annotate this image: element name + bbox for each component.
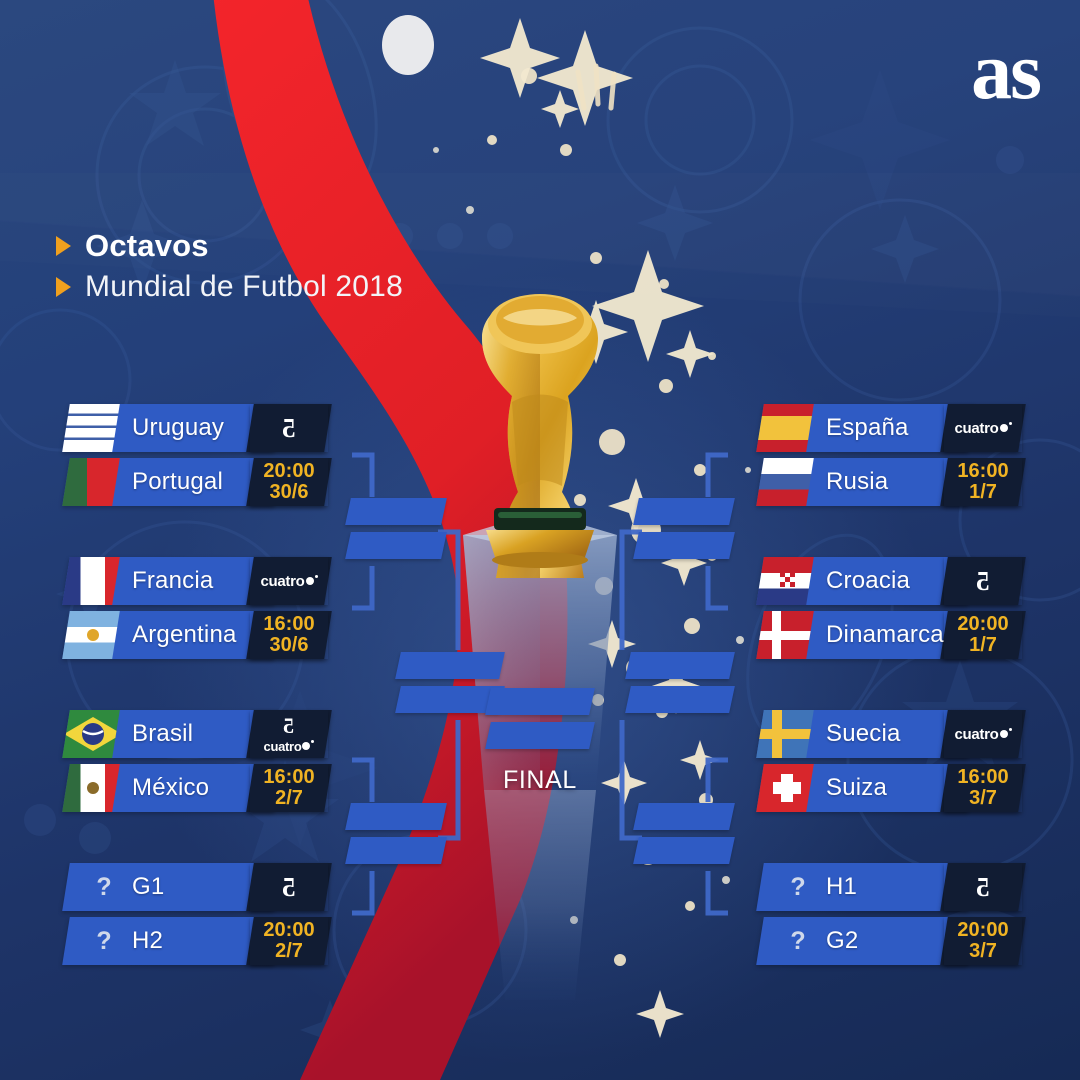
flag-rusia <box>756 458 814 506</box>
match-row-team1[interactable]: Brasil 5 cuatro <box>66 710 328 758</box>
channel-badge-telecinco: 5 <box>944 863 1022 911</box>
match-row-team2[interactable]: Dinamarca 20:00 1/7 <box>760 611 1022 659</box>
match-date: 3/7 <box>969 788 997 809</box>
match-time: 16:00 <box>957 767 1008 788</box>
match-time-badge: 20:00 2/7 <box>250 917 328 965</box>
infographic-canvas: as Octavos Mundial de Futbol 2018 <box>0 0 1080 1080</box>
unknown-team-icon: ? <box>84 863 124 911</box>
match-suecia-suiza[interactable]: Suecia cuatro Suiza 16:00 3/7 <box>760 710 1022 818</box>
match-time-badge: 16:00 30/6 <box>250 611 328 659</box>
team-name: Dinamarca <box>826 611 944 659</box>
match-date: 30/6 <box>270 635 309 656</box>
match-date: 2/7 <box>275 788 303 809</box>
flag-mexico <box>62 764 120 812</box>
qf-slot-right-bottom[interactable] <box>636 803 732 871</box>
team-name: Brasil <box>132 710 193 758</box>
qf-slot-bar <box>345 532 447 559</box>
flag-argentina <box>62 611 120 659</box>
match-row-team1[interactable]: Uruguay 5 <box>66 404 328 452</box>
flag-brasil <box>62 710 120 758</box>
team-name: Uruguay <box>132 404 224 452</box>
match-time-badge: 16:00 2/7 <box>250 764 328 812</box>
final-slot[interactable] <box>488 688 592 756</box>
match-row-team1[interactable]: Suecia cuatro <box>760 710 1022 758</box>
mexico-emblem-icon <box>62 764 120 812</box>
match-row-team1[interactable]: ? G1 5 <box>66 863 328 911</box>
sf-slot-right[interactable] <box>628 652 732 720</box>
team-name: España <box>826 404 909 452</box>
final-slot-bar <box>485 722 595 749</box>
unknown-team-icon: ? <box>84 917 124 965</box>
match-date: 2/7 <box>275 941 303 962</box>
match-time: 20:00 <box>263 920 314 941</box>
team-name: Croacia <box>826 557 910 605</box>
qf-slot-bar <box>633 532 735 559</box>
qf-slot-bar <box>345 837 447 864</box>
match-date: 3/7 <box>969 941 997 962</box>
match-time: 16:00 <box>957 461 1008 482</box>
channel-badge-cuatro: cuatro <box>944 404 1022 452</box>
qf-slot-bar <box>345 803 447 830</box>
dinamarca-cross-icon <box>756 611 814 659</box>
match-row-team2[interactable]: México 16:00 2/7 <box>66 764 328 812</box>
team-name: Francia <box>132 557 213 605</box>
match-croacia-dinamarca[interactable]: Croacia 5 Dinamarca 20:00 1/7 <box>760 557 1022 665</box>
channel-badge-telecinco: 5 <box>250 863 328 911</box>
qf-slot-bar <box>633 803 735 830</box>
match-h1-g2[interactable]: ? H1 5 ? G2 20:00 3/7 <box>760 863 1022 971</box>
match-time: 20:00 <box>957 614 1008 635</box>
sf-slot-bar <box>625 686 735 713</box>
match-time: 16:00 <box>263 614 314 635</box>
match-row-team2[interactable]: Suiza 16:00 3/7 <box>760 764 1022 812</box>
channel-badge-telecinco: 5 <box>250 404 328 452</box>
team-name: G2 <box>826 917 858 965</box>
unknown-team-icon: ? <box>778 917 818 965</box>
match-time: 20:00 <box>263 461 314 482</box>
qf-slot-left-bottom[interactable] <box>348 803 444 871</box>
match-row-team1[interactable]: Croacia 5 <box>760 557 1022 605</box>
team-name: Suiza <box>826 764 887 812</box>
qf-slot-bar <box>633 837 735 864</box>
flag-croacia <box>756 557 814 605</box>
channel-badge-telecinco: 5 <box>944 557 1022 605</box>
channel-badge-cuatro: cuatro <box>944 710 1022 758</box>
argentina-sun-icon <box>62 611 120 659</box>
qf-slot-bar <box>633 498 735 525</box>
flag-dinamarca <box>756 611 814 659</box>
qf-slot-left-top[interactable] <box>348 498 444 566</box>
match-row-team2[interactable]: Portugal 20:00 30/6 <box>66 458 328 506</box>
sf-slot-bar <box>625 652 735 679</box>
flag-francia <box>62 557 120 605</box>
qf-slot-bar <box>345 498 447 525</box>
match-row-team2[interactable]: ? G2 20:00 3/7 <box>760 917 1022 965</box>
flag-suecia <box>756 710 814 758</box>
match-time-badge: 16:00 1/7 <box>944 458 1022 506</box>
team-name: México <box>132 764 209 812</box>
match-row-team1[interactable]: ? H1 5 <box>760 863 1022 911</box>
sf-slot-bar <box>395 652 505 679</box>
match-time-badge: 20:00 3/7 <box>944 917 1022 965</box>
team-name: Rusia <box>826 458 888 506</box>
match-row-team2[interactable]: Rusia 16:00 1/7 <box>760 458 1022 506</box>
channel-badge-telecinco-cuatro: 5 cuatro <box>250 710 328 758</box>
suiza-cross-icon <box>756 764 814 812</box>
match-time-badge: 20:00 1/7 <box>944 611 1022 659</box>
channel-badge-cuatro: cuatro <box>250 557 328 605</box>
match-date: 1/7 <box>969 635 997 656</box>
match-date: 30/6 <box>270 482 309 503</box>
flag-uruguay <box>62 404 120 452</box>
brasil-emblem-icon <box>62 710 120 758</box>
croacia-checkerboard-icon <box>756 557 814 605</box>
match-time: 20:00 <box>957 920 1008 941</box>
team-name: Argentina <box>132 611 237 659</box>
match-row-team2[interactable]: Argentina 16:00 30/6 <box>66 611 328 659</box>
match-g1-h2[interactable]: ? G1 5 ? H2 20:00 2/7 <box>66 863 328 971</box>
match-row-team1[interactable]: Francia cuatro <box>66 557 328 605</box>
final-label: FINAL <box>503 766 577 795</box>
match-row-team2[interactable]: ? H2 20:00 2/7 <box>66 917 328 965</box>
team-name: G1 <box>132 863 164 911</box>
match-uruguay-portugal[interactable]: Uruguay 5 Portugal 20:00 30/6 <box>66 404 328 512</box>
match-time-badge: 16:00 3/7 <box>944 764 1022 812</box>
match-brasil-mexico[interactable]: Brasil 5 cuatro México 16:00 2/7 <box>66 710 328 818</box>
match-espana-rusia[interactable]: España cuatro Rusia 16:00 1/7 <box>760 404 1022 512</box>
flag-espana <box>756 404 814 452</box>
final-slot-bar <box>485 688 595 715</box>
flag-portugal <box>62 458 120 506</box>
match-time-badge: 20:00 30/6 <box>250 458 328 506</box>
flag-suiza <box>756 764 814 812</box>
match-row-team1[interactable]: España cuatro <box>760 404 1022 452</box>
team-name: Suecia <box>826 710 901 758</box>
suecia-cross-icon <box>756 710 814 758</box>
team-name: Portugal <box>132 458 223 506</box>
qf-slot-right-top[interactable] <box>636 498 732 566</box>
unknown-team-icon: ? <box>778 863 818 911</box>
team-name: H1 <box>826 863 857 911</box>
match-date: 1/7 <box>969 482 997 503</box>
match-francia-argentina[interactable]: Francia cuatro Argentina 16:00 30/6 <box>66 557 328 665</box>
match-time: 16:00 <box>263 767 314 788</box>
team-name: H2 <box>132 917 163 965</box>
